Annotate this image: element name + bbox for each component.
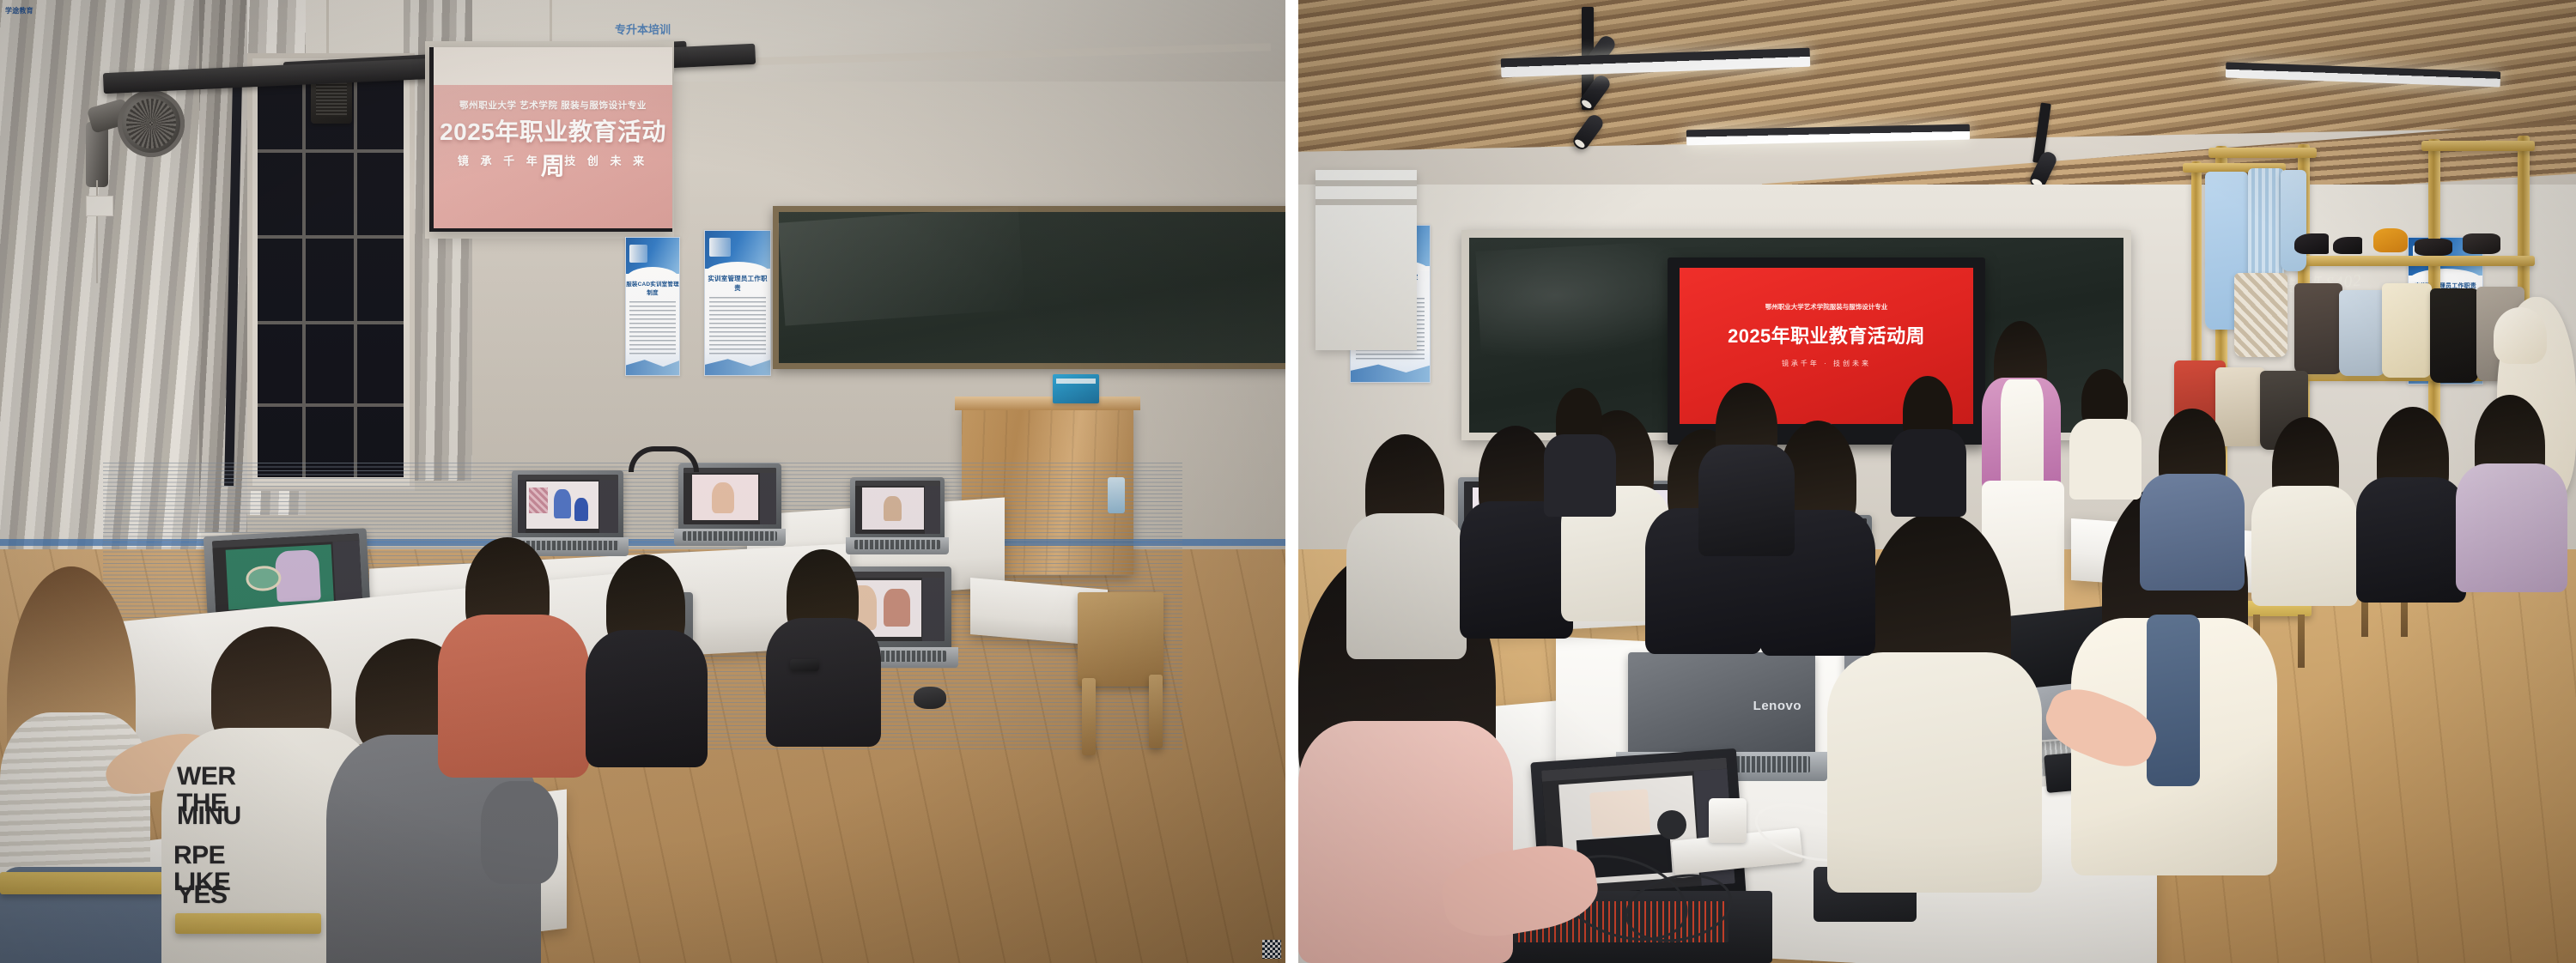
laptop-brand-label: Lenovo [1753, 699, 1801, 713]
torso-shirt [438, 615, 589, 778]
figure-sketch [884, 496, 902, 522]
garment-rack-bar [2208, 148, 2317, 158]
display-title: 2025年职业教育活动周 [1680, 321, 1973, 348]
torso-shirt [1891, 429, 1966, 517]
torso-shirt [2251, 486, 2358, 606]
cabinet-vent [1315, 180, 1417, 186]
hanging-garment [2281, 170, 2306, 271]
hanging-garment [2339, 290, 2385, 376]
torso-shirt [2356, 477, 2466, 603]
wooden-chair [1078, 592, 1163, 687]
hanging-garment [2215, 367, 2265, 446]
window-mullion [258, 149, 404, 153]
laptop-lid [850, 477, 945, 539]
software-toolbar [518, 480, 526, 533]
photo-reference [1589, 789, 1651, 838]
hanging-garment [2430, 288, 2478, 383]
tshirt-line: YES [177, 882, 228, 909]
stool-leg [2298, 615, 2305, 668]
laptop-base [674, 529, 786, 546]
fabric-swatch [529, 488, 548, 514]
laptop-screen [855, 481, 940, 533]
arm-sleeve [481, 781, 558, 884]
laptop [512, 470, 623, 554]
garment-sketch [884, 589, 910, 627]
accessory-bag [2415, 239, 2452, 256]
torso-shirt [1698, 445, 1795, 556]
folded-fabric [2373, 228, 2408, 252]
window-mullion [258, 235, 404, 239]
design-canvas [692, 475, 759, 521]
poster-body-text [629, 301, 675, 356]
torso-shirt [586, 630, 708, 767]
slide-title: 2025年职业教育活动周 [434, 113, 672, 182]
chair-leg [1082, 678, 1096, 755]
left-photo-panel: 鄂州职业大学 艺术学院 服装与服饰设计专业 2025年职业教育活动周 镜 承 千… [0, 0, 1285, 963]
wall-poster-cad-rules: 服装CAD实训室管理制度 [625, 237, 680, 376]
garment-sketch [574, 498, 589, 522]
poster-title: 实训室管理员工作职责 [705, 274, 770, 293]
design-software-ui [855, 481, 940, 533]
garment-sketch [554, 489, 571, 518]
torso-shirt [1544, 434, 1616, 517]
accessory-bag [2463, 233, 2500, 254]
torso-shirt [1460, 501, 1573, 639]
torso-shirt [766, 618, 881, 747]
figure-sketch [712, 482, 734, 512]
slide-subtitle: 鄂州职业大学 艺术学院 服装与服饰设计专业 [434, 99, 672, 112]
plug [1657, 810, 1686, 839]
display-tagline: 镜承千年 · 技创未来 [1680, 359, 1973, 368]
mannequin-drape [2494, 307, 2547, 364]
design-software-ui [683, 468, 776, 524]
flyer-brand-label: 学途教育 [5, 6, 33, 15]
poster-footer-wave [626, 353, 679, 375]
wall-outlet [86, 196, 113, 216]
computer-mouse [914, 687, 946, 709]
laptop-base [846, 537, 949, 554]
university-logo [629, 245, 647, 263]
hanging-garment [2234, 273, 2287, 357]
storage-cabinet [1315, 170, 1417, 350]
slide-tagline: 镜 承 千 年 · 技 创 未 来 [434, 152, 672, 168]
design-canvas [862, 488, 923, 530]
power-adapter [1709, 798, 1747, 843]
window-mullion [258, 321, 404, 324]
laptop-keyboard [854, 540, 941, 549]
projected-slide: 鄂州职业大学 艺术学院 服装与服饰设计专业 2025年职业教育活动周 镜 承 千… [434, 85, 672, 228]
chair-leg [1149, 675, 1163, 748]
laptop-screen [518, 475, 618, 533]
design-canvas [526, 481, 598, 529]
window-mullion [354, 67, 357, 477]
design-software-ui [518, 475, 618, 533]
software-panels [922, 578, 945, 641]
dark-window-glass [258, 67, 404, 477]
hanging-garment [2248, 168, 2284, 285]
poster-title: 服装CAD实训室管理制度 [626, 279, 679, 296]
software-panels [760, 473, 776, 524]
window-mullion [258, 403, 404, 407]
window-mullion [302, 67, 306, 477]
university-logo [709, 238, 732, 257]
torso-shirt [2456, 463, 2567, 592]
garment-rack-bar [2421, 141, 2535, 151]
figure-sketch [274, 549, 321, 603]
torso-shirt [1346, 513, 1467, 659]
overall-strap [2147, 615, 2200, 786]
tshirt-line: MINU [177, 803, 241, 830]
cabinet-vent [1315, 199, 1417, 205]
high-heel-shoe-icon [2333, 237, 2362, 254]
stool-seat [175, 913, 321, 934]
laptop-lid [678, 463, 781, 530]
torso-shirt [1827, 652, 2042, 893]
display-subtitle: 鄂州职业大学艺术学院服装与服饰设计专业 [1680, 302, 1973, 312]
hanging-garment [2382, 283, 2432, 378]
water-bottle [1108, 477, 1125, 513]
wall-poster-lab-duties: 实训室管理员工作职责 [704, 230, 771, 376]
poster-footer-wave [705, 352, 770, 375]
right-photo-panel: 3级服装2班 S402 鄂州职业大学艺术学院服装与服饰设计专业 2025年职业教… [1298, 0, 2576, 963]
laptop [678, 463, 781, 546]
stool-seat [0, 872, 163, 894]
photo-collage: 鄂州职业大学 艺术学院 服装与服饰设计专业 2025年职业教育活动周 镜 承 千… [0, 0, 2576, 963]
hanging-garment [2294, 283, 2342, 374]
poster-body-text [709, 297, 765, 354]
projection-screen: 鄂州职业大学 艺术学院 服装与服饰设计专业 2025年职业教育活动周 镜 承 千… [429, 47, 672, 232]
top-blouse [2001, 379, 2044, 489]
laptop-lid [512, 470, 623, 539]
laptop [850, 477, 945, 554]
stylus-pen [790, 659, 819, 671]
software-panels [599, 480, 617, 533]
torso-shirt [2069, 419, 2142, 500]
podium-signage-card [1053, 374, 1099, 403]
laptop-lid-back: Lenovo [1628, 652, 1815, 755]
software-panels [925, 486, 940, 534]
high-heel-shoe-icon [2294, 233, 2329, 254]
laptop-screen [683, 468, 776, 524]
panel-divider [1285, 0, 1298, 963]
poster-footer-wave [1351, 357, 1430, 382]
podium-top-surface [955, 397, 1140, 410]
blackboard-glare [778, 206, 1025, 325]
laptop-keyboard [683, 531, 776, 541]
flyer-headline: 专升本培训 [0, 21, 81, 37]
design-canvas [225, 544, 334, 610]
torso-shirt [2140, 474, 2245, 591]
